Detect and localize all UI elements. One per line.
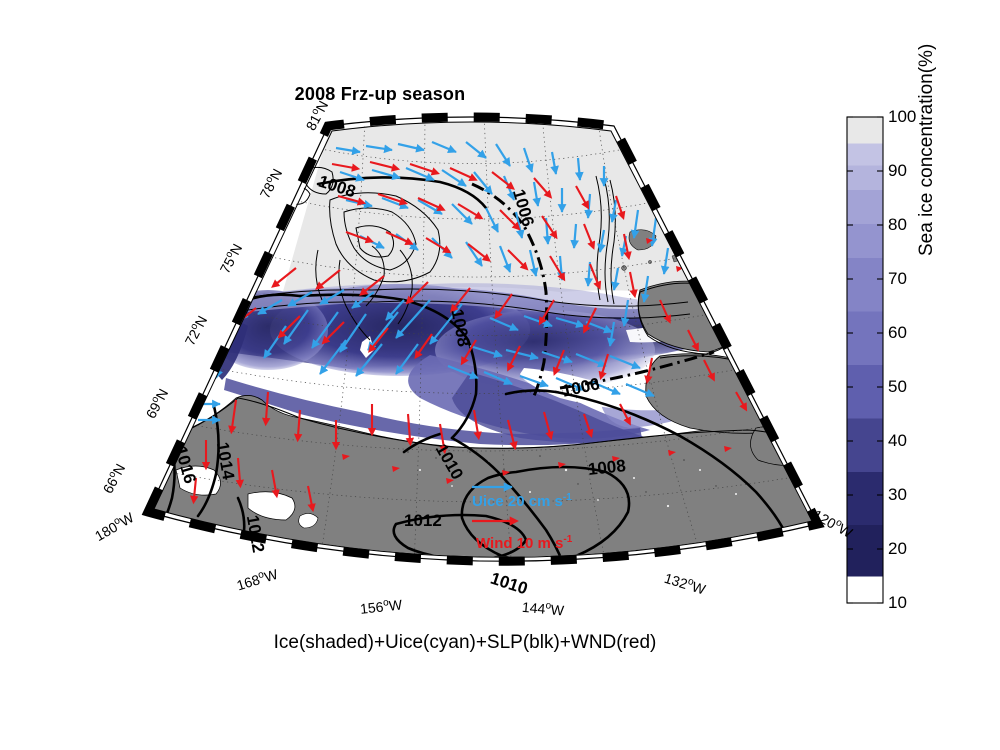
colorbar-tick-label: 40 [888,431,907,451]
contour-label-1012: 1012 [404,511,442,531]
colorbar-tick-label: 10 [888,593,907,613]
colorbar-tick-label: 100 [888,107,916,127]
lon-label-144: 144oW [521,598,564,618]
colorbar-title: Sea ice concentration(%) [916,226,938,256]
colorbar-tick-label: 80 [888,215,907,235]
vector-legend-arrows [460,478,590,548]
page-title: 2008 Frz-up season [0,84,760,105]
x-axis-label: Ice(shaded)+Uice(cyan)+SLP(blk)+WND(red) [0,632,930,654]
colorbar-tick-label: 50 [888,377,907,397]
contour-label-1008-se: 1008 [587,456,627,480]
colorbar-tick-label: 20 [888,539,907,559]
colorbar-tick-label: 60 [888,323,907,343]
colorbar-tick-label: 70 [888,269,907,289]
colorbar-tick-label: 90 [888,161,907,181]
map-panel[interactable] [0,100,830,620]
colorbar-tick-label: 30 [888,485,907,505]
